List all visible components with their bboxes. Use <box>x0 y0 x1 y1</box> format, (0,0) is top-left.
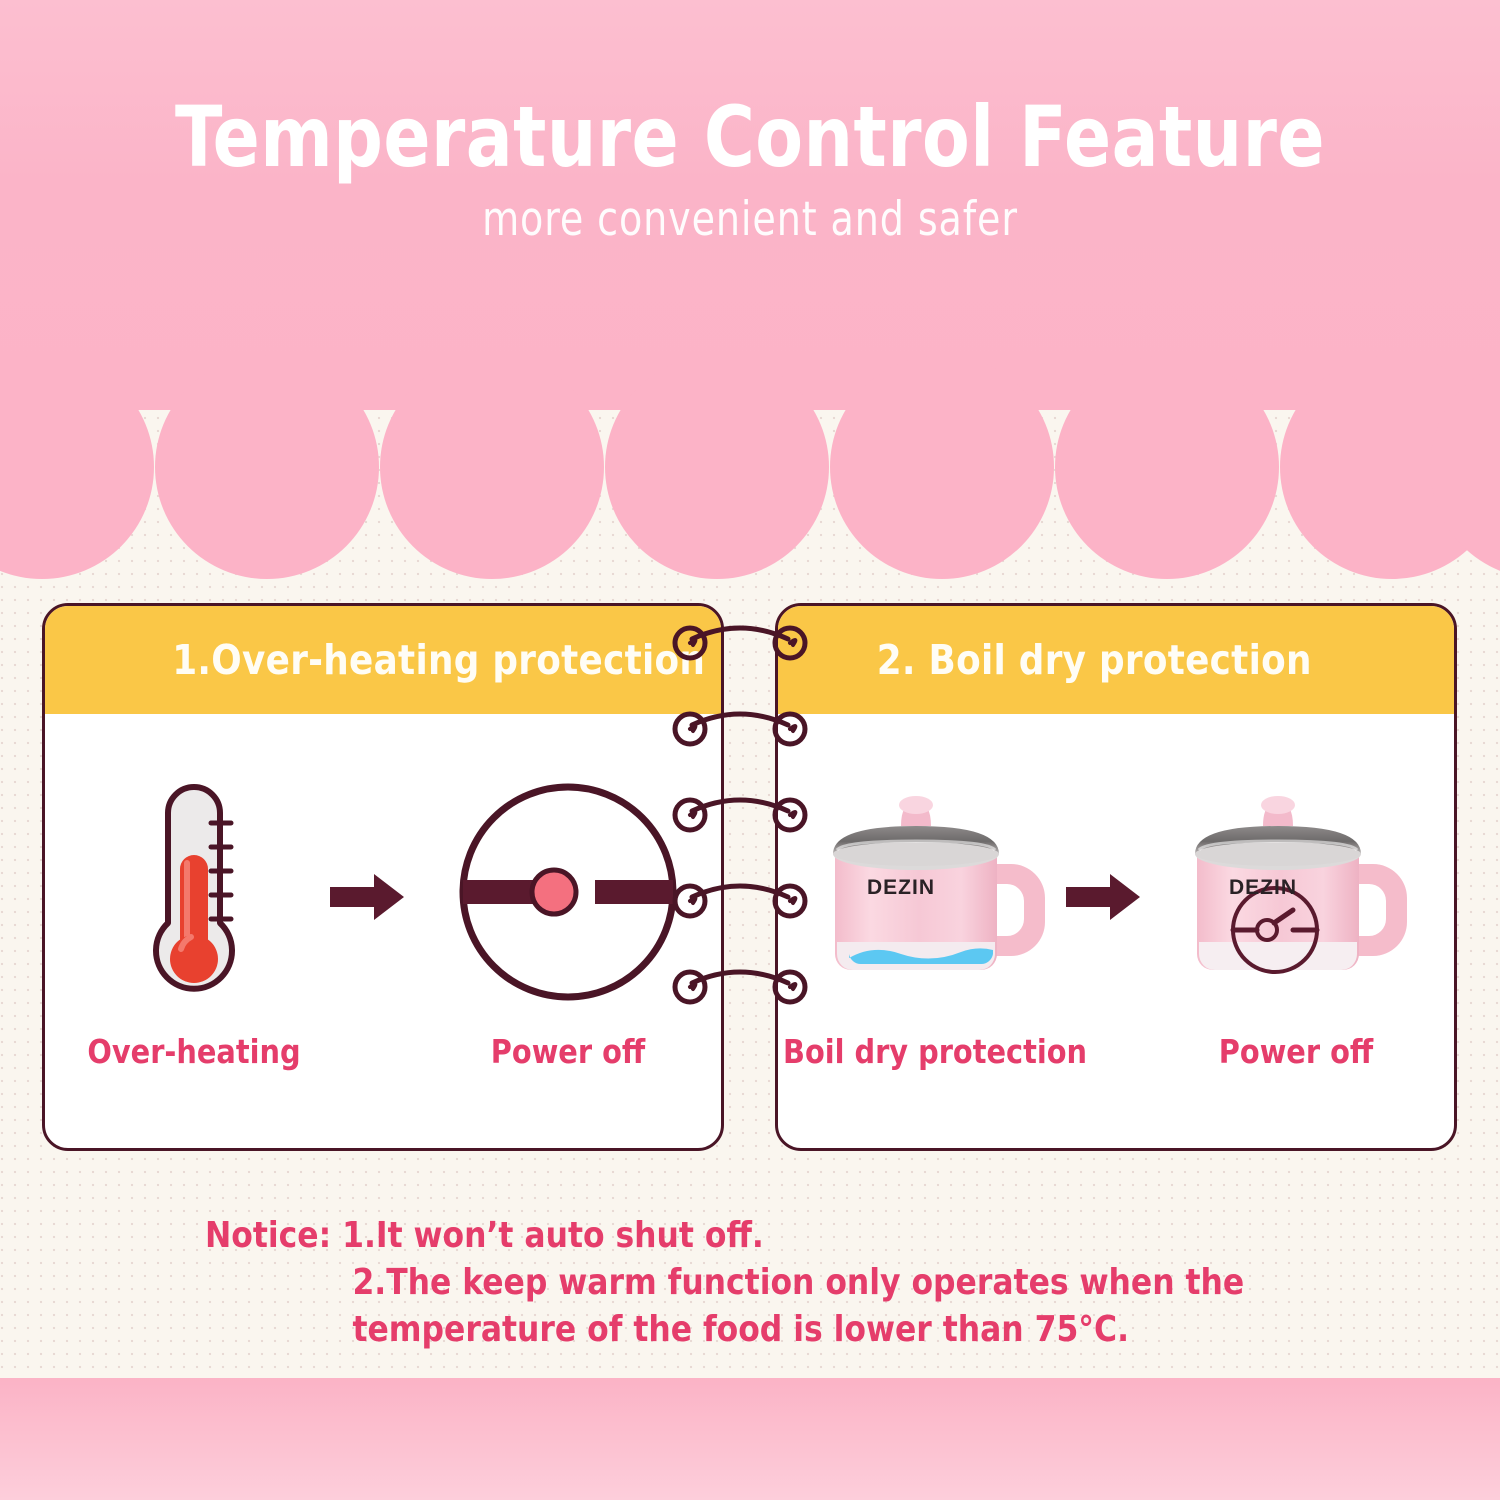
card-header-label: 2. Boil dry protection <box>877 636 1312 684</box>
pot-brand-label: DEZIN <box>867 876 935 899</box>
step-row: Over-heating Power off <box>45 714 721 1151</box>
scallop-lobe <box>605 355 829 579</box>
card-boil-dry-protection: 2. Boil dry protection <box>775 603 1457 1151</box>
step-caption: Over-heating <box>49 1032 340 1071</box>
page-subtitle: more convenient and safer <box>75 192 1425 247</box>
card-over-heating-protection: 1.Over-heating protection <box>42 603 724 1151</box>
card-header-label: 1.Over-heating protection <box>172 636 705 684</box>
right-arrow-icon <box>330 874 404 920</box>
notice-block: Notice: 1.It won’t auto shut off. 2.The … <box>205 1212 1350 1353</box>
notice-line: Notice: 1.It won’t auto shut off. <box>205 1212 1350 1259</box>
thermometer-icon <box>119 777 269 1007</box>
scallop-lobe <box>380 355 604 579</box>
scallop-lobe <box>830 355 1054 579</box>
step-power-off <box>443 772 693 1012</box>
power-off-switch-icon <box>453 777 683 1007</box>
card-body-over-heating: Over-heating Power off <box>45 714 721 1151</box>
card-body-boil-dry: DEZIN <box>778 714 1454 1151</box>
step-caption: Power off <box>1151 1032 1442 1071</box>
page-title: Temperature Control Feature <box>60 95 1440 179</box>
notice-line: temperature of the food is lower than 75… <box>205 1306 1350 1353</box>
bottom-banner <box>0 1378 1500 1500</box>
step-thermometer <box>69 772 319 1012</box>
electric-pot-power-off-icon: DEZIN <box>1175 772 1415 1012</box>
step-row: DEZIN <box>778 714 1454 1151</box>
scallop-lobe <box>0 355 154 579</box>
notice-line: 2.The keep warm function only operates w… <box>205 1259 1350 1306</box>
scallop-lobe <box>1055 355 1279 579</box>
step-caption: Boil dry protection <box>775 1032 1095 1071</box>
scallop-lobe <box>155 355 379 579</box>
card-header-over-heating: 1.Over-heating protection <box>45 606 721 714</box>
step-caption: Power off <box>423 1032 714 1071</box>
card-header-boil-dry: 2. Boil dry protection <box>778 606 1454 714</box>
pot-brand-label: DEZIN <box>1229 876 1297 899</box>
step-pot-power-off: DEZIN <box>1170 772 1420 1012</box>
electric-pot-with-water-icon: DEZIN <box>813 772 1053 1012</box>
scalloped-edge <box>0 355 1500 475</box>
infographic-page: Temperature Control Feature more conveni… <box>0 0 1500 1500</box>
right-arrow-icon <box>1066 874 1140 920</box>
step-pot-with-water: DEZIN <box>808 772 1058 1012</box>
